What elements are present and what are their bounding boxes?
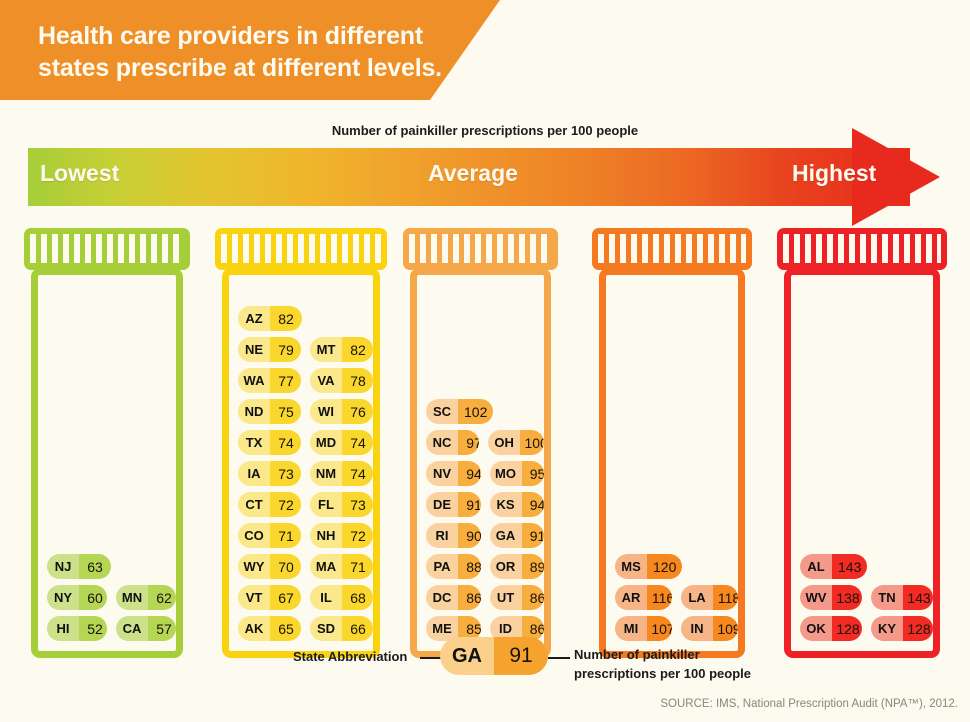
state-abbreviation: NJ [47, 554, 79, 579]
prescription-rate-value: 128 [832, 616, 862, 641]
scale-caption: Number of painkiller prescriptions per 1… [0, 123, 970, 138]
bottle-cap-ribs [783, 234, 941, 263]
state-abbreviation: AZ [238, 306, 270, 331]
prescription-rate-value: 74 [342, 461, 373, 486]
state-abbreviation: NC [426, 430, 458, 455]
prescription-rate-value: 65 [270, 616, 301, 641]
pill-row: CT72FL73 [229, 492, 373, 517]
state-abbreviation: WI [310, 399, 342, 424]
pill-row: IA73NM74 [229, 461, 373, 486]
prescription-rate-value: 128 [903, 616, 933, 641]
prescription-rate-value: 143 [832, 554, 867, 579]
prescription-rate-value: 143 [903, 585, 933, 610]
prescription-rate-value: 72 [342, 523, 373, 548]
pill-bottle-average: SC102NC97OH100NV94MO95DE91KS94RI90GA91PA… [403, 228, 558, 658]
bottle-cap-icon [215, 228, 387, 270]
prescription-rate-value: 86 [522, 585, 545, 610]
state-abbreviation: HI [47, 616, 79, 641]
prescription-rate-value: 76 [342, 399, 373, 424]
state-abbreviation: VT [238, 585, 270, 610]
state-pill-nm[interactable]: NM74 [310, 461, 373, 486]
state-abbreviation: NE [238, 337, 270, 362]
prescription-rate-value: 66 [342, 616, 373, 641]
state-pill-ar[interactable]: AR116 [615, 585, 672, 610]
pill-row: NJ63 [38, 554, 176, 579]
state-pill-ky[interactable]: KY128 [871, 616, 933, 641]
prescription-rate-value: 62 [148, 585, 176, 610]
pill-row: WY70MA71 [229, 554, 373, 579]
state-abbreviation: MO [490, 461, 522, 486]
prescription-rate-value: 109 [713, 616, 738, 641]
state-abbreviation: MI [615, 616, 647, 641]
state-pill-ut[interactable]: UT86 [490, 585, 545, 610]
prescription-rate-value: 107 [647, 616, 672, 641]
prescription-rate-value: 94 [458, 461, 481, 486]
bottle-body: AZ82NE79MT82WA77VA78ND75WI76TX74MD74IA73… [222, 268, 380, 658]
state-pill-nv[interactable]: NV94 [426, 461, 481, 486]
state-pill-ia[interactable]: IA73 [238, 461, 301, 486]
state-abbreviation: CT [238, 492, 270, 517]
prescription-rate-value: 100 [520, 430, 544, 455]
state-pill-nh[interactable]: NH72 [310, 523, 373, 548]
prescription-rate-value: 82 [270, 306, 302, 331]
bottle-body: SC102NC97OH100NV94MO95DE91KS94RI90GA91PA… [410, 268, 551, 658]
state-pill-sd[interactable]: SD66 [310, 616, 373, 641]
bottle-cap-icon [777, 228, 947, 270]
prescription-rate-value: 74 [342, 430, 373, 455]
state-pill-sc[interactable]: SC102 [426, 399, 493, 424]
state-abbreviation: GA [490, 523, 522, 548]
prescription-rate-value: 67 [270, 585, 301, 610]
pill-row: PA88OR89 [417, 554, 544, 579]
prescription-rate-value: 74 [270, 430, 301, 455]
state-pill-de[interactable]: DE91 [426, 492, 481, 517]
state-pill-or[interactable]: OR89 [490, 554, 545, 579]
prescription-rate-value: 73 [342, 492, 373, 517]
pill-row: HI52CA57 [38, 616, 176, 641]
pill-row: WA77VA78 [229, 368, 373, 393]
state-pill-nc[interactable]: NC97 [426, 430, 479, 455]
state-abbreviation: MT [310, 337, 342, 362]
prescription-rate-value: 60 [79, 585, 107, 610]
prescription-rate-value: 57 [148, 616, 176, 641]
state-pill-ca[interactable]: CA57 [116, 616, 176, 641]
pill-row: TX74MD74 [229, 430, 373, 455]
state-abbreviation: IA [238, 461, 270, 486]
state-abbreviation: WY [238, 554, 270, 579]
state-abbreviation: SC [426, 399, 458, 424]
prescription-rate-value: 77 [270, 368, 301, 393]
prescription-rate-value: 102 [458, 399, 493, 424]
prescription-rate-value: 68 [342, 585, 373, 610]
pill-row: DE91KS94 [417, 492, 544, 517]
prescription-rate-value: 72 [270, 492, 301, 517]
state-pill-ks[interactable]: KS94 [490, 492, 545, 517]
state-pill-dc[interactable]: DC86 [426, 585, 481, 610]
state-abbreviation: IN [681, 616, 713, 641]
prescription-rate-value: 118 [713, 585, 738, 610]
state-abbreviation: MD [310, 430, 342, 455]
state-pill-ms[interactable]: MS120 [615, 554, 682, 579]
state-pill-nj[interactable]: NJ63 [47, 554, 111, 579]
state-abbreviation: TX [238, 430, 270, 455]
pill-row: CO71NH72 [229, 523, 373, 548]
state-pill-nd[interactable]: ND75 [238, 399, 301, 424]
state-pill-pa[interactable]: PA88 [426, 554, 481, 579]
prescription-rate-value: 63 [79, 554, 111, 579]
pill-row: VT67IL68 [229, 585, 373, 610]
legend-left-label: State Abbreviation [293, 649, 407, 664]
bottle-body: MS120AR116LA118MI107IN109 [599, 268, 745, 658]
pill-row: AR116LA118 [606, 585, 738, 610]
state-pill-hi[interactable]: HI52 [47, 616, 107, 641]
state-abbreviation: MN [116, 585, 148, 610]
state-pill-md[interactable]: MD74 [310, 430, 373, 455]
state-abbreviation: VA [310, 368, 342, 393]
pill-row: AZ82 [229, 306, 373, 331]
pill-row: WV138TN143 [791, 585, 933, 610]
state-abbreviation: MS [615, 554, 647, 579]
state-abbreviation: AK [238, 616, 270, 641]
pill-row: RI90GA91 [417, 523, 544, 548]
state-abbreviation: OR [490, 554, 522, 579]
bottle-cap-ribs [409, 234, 552, 263]
state-abbreviation: CO [238, 523, 270, 548]
state-pill-al[interactable]: AL143 [800, 554, 867, 579]
bottle-body: NJ63NY60MN62HI52CA57 [31, 268, 183, 658]
legend-right-leader-line [548, 657, 570, 659]
pill-row: OK128KY128 [791, 616, 933, 641]
prescription-rate-value: 71 [342, 554, 373, 579]
state-abbreviation: LA [681, 585, 713, 610]
state-pill-az[interactable]: AZ82 [238, 306, 302, 331]
prescription-rate-value: 82 [342, 337, 373, 362]
scale-label-highest: Highest [792, 160, 876, 187]
state-abbreviation: OK [800, 616, 832, 641]
pill-row: NE79MT82 [229, 337, 373, 362]
prescription-rate-value: 138 [832, 585, 862, 610]
source-note: SOURCE: IMS, National Prescription Audit… [660, 698, 958, 710]
legend-right-label: Number of painkillerprescriptions per 10… [574, 646, 834, 684]
state-abbreviation: KS [490, 492, 522, 517]
legend-sample-value: 91 [494, 637, 548, 675]
prescription-rate-value: 73 [270, 461, 301, 486]
prescription-rate-value: 95 [522, 461, 545, 486]
prescription-rate-value: 75 [270, 399, 301, 424]
prescription-rate-value: 88 [458, 554, 481, 579]
state-pill-il[interactable]: IL68 [310, 585, 373, 610]
pill-row: NY60MN62 [38, 585, 176, 610]
state-abbreviation: NH [310, 523, 342, 548]
state-pill-la[interactable]: LA118 [681, 585, 738, 610]
state-pill-ne[interactable]: NE79 [238, 337, 301, 362]
state-pill-vt[interactable]: VT67 [238, 585, 301, 610]
pill-bottle-high-mid: MS120AR116LA118MI107IN109 [592, 228, 752, 658]
state-abbreviation: AR [615, 585, 647, 610]
state-pill-ct[interactable]: CT72 [238, 492, 301, 517]
prescription-rate-value: 97 [458, 430, 479, 455]
pill-row: AL143 [791, 554, 933, 579]
prescription-rate-value: 79 [270, 337, 301, 362]
prescription-rate-value: 120 [647, 554, 682, 579]
state-abbreviation: AL [800, 554, 832, 579]
state-abbreviation: OH [488, 430, 520, 455]
prescription-rate-value: 89 [522, 554, 545, 579]
bottle-cap-ribs [598, 234, 746, 263]
prescription-rate-value: 86 [458, 585, 481, 610]
prescription-rate-value: 70 [270, 554, 301, 579]
legend-left-leader-line [420, 657, 442, 659]
state-abbreviation: WV [800, 585, 832, 610]
state-abbreviation: NY [47, 585, 79, 610]
prescription-rate-value: 71 [270, 523, 301, 548]
prescription-rate-value: 91 [522, 523, 545, 548]
state-pill-ri[interactable]: RI90 [426, 523, 481, 548]
pill-row: DC86UT86 [417, 585, 544, 610]
state-abbreviation: FL [310, 492, 342, 517]
legend-sample-pill: GA 91 [440, 637, 548, 675]
pill-bottle-lowest: NJ63NY60MN62HI52CA57 [24, 228, 190, 658]
state-pill-mn[interactable]: MN62 [116, 585, 176, 610]
state-abbreviation: WA [238, 368, 270, 393]
state-pill-mi[interactable]: MI107 [615, 616, 672, 641]
state-pill-ak[interactable]: AK65 [238, 616, 301, 641]
pill-bottle-low-mid: AZ82NE79MT82WA77VA78ND75WI76TX74MD74IA73… [215, 228, 387, 658]
state-pill-wa[interactable]: WA77 [238, 368, 301, 393]
state-pill-wv[interactable]: WV138 [800, 585, 862, 610]
state-pill-co[interactable]: CO71 [238, 523, 301, 548]
infographic-canvas: Health care providers in differentstates… [0, 0, 970, 722]
pill-row: NC97OH100 [417, 430, 544, 455]
bottle-cap-ribs [221, 234, 381, 263]
state-pill-fl[interactable]: FL73 [310, 492, 373, 517]
bottle-cap-icon [403, 228, 558, 270]
state-abbreviation: DC [426, 585, 458, 610]
state-pill-oh[interactable]: OH100 [488, 430, 544, 455]
state-abbreviation: NV [426, 461, 458, 486]
state-abbreviation: NM [310, 461, 342, 486]
prescription-rate-value: 90 [458, 523, 481, 548]
state-abbreviation: MA [310, 554, 342, 579]
pill-row: NV94MO95 [417, 461, 544, 486]
pill-row: SC102 [417, 399, 544, 424]
pill-row: MI107IN109 [606, 616, 738, 641]
state-pill-ny[interactable]: NY60 [47, 585, 107, 610]
prescription-rate-value: 94 [522, 492, 545, 517]
state-abbreviation: PA [426, 554, 458, 579]
bottle-body: AL143WV138TN143OK128KY128 [784, 268, 940, 658]
scale-label-average: Average [428, 160, 518, 187]
pill-row: MS120 [606, 554, 738, 579]
pill-bottle-highest: AL143WV138TN143OK128KY128 [777, 228, 947, 658]
state-pill-in[interactable]: IN109 [681, 616, 738, 641]
state-abbreviation: DE [426, 492, 458, 517]
legend-sample-abbr: GA [440, 637, 494, 675]
state-pill-mo[interactable]: MO95 [490, 461, 545, 486]
state-pill-tn[interactable]: TN143 [871, 585, 933, 610]
state-pill-ma[interactable]: MA71 [310, 554, 373, 579]
prescription-rate-value: 116 [647, 585, 672, 610]
state-pill-wi[interactable]: WI76 [310, 399, 373, 424]
bottle-cap-icon [592, 228, 752, 270]
prescription-rate-value: 52 [79, 616, 107, 641]
page-title: Health care providers in differentstates… [38, 20, 458, 84]
state-abbreviation: IL [310, 585, 342, 610]
state-pill-tx[interactable]: TX74 [238, 430, 301, 455]
state-abbreviation: KY [871, 616, 903, 641]
bottle-cap-icon [24, 228, 190, 270]
state-abbreviation: RI [426, 523, 458, 548]
state-pill-wy[interactable]: WY70 [238, 554, 301, 579]
state-abbreviation: CA [116, 616, 148, 641]
pill-row: ND75WI76 [229, 399, 373, 424]
state-pill-va[interactable]: VA78 [310, 368, 373, 393]
state-abbreviation: ND [238, 399, 270, 424]
scale-label-lowest: Lowest [40, 160, 119, 187]
prescription-rate-value: 91 [458, 492, 481, 517]
state-abbreviation: SD [310, 616, 342, 641]
state-abbreviation: TN [871, 585, 903, 610]
bottle-cap-ribs [30, 234, 184, 263]
prescription-rate-value: 78 [342, 368, 373, 393]
state-pill-mt[interactable]: MT82 [310, 337, 373, 362]
state-abbreviation: UT [490, 585, 522, 610]
pill-row: AK65SD66 [229, 616, 373, 641]
state-pill-ga[interactable]: GA91 [490, 523, 545, 548]
state-pill-ok[interactable]: OK128 [800, 616, 862, 641]
